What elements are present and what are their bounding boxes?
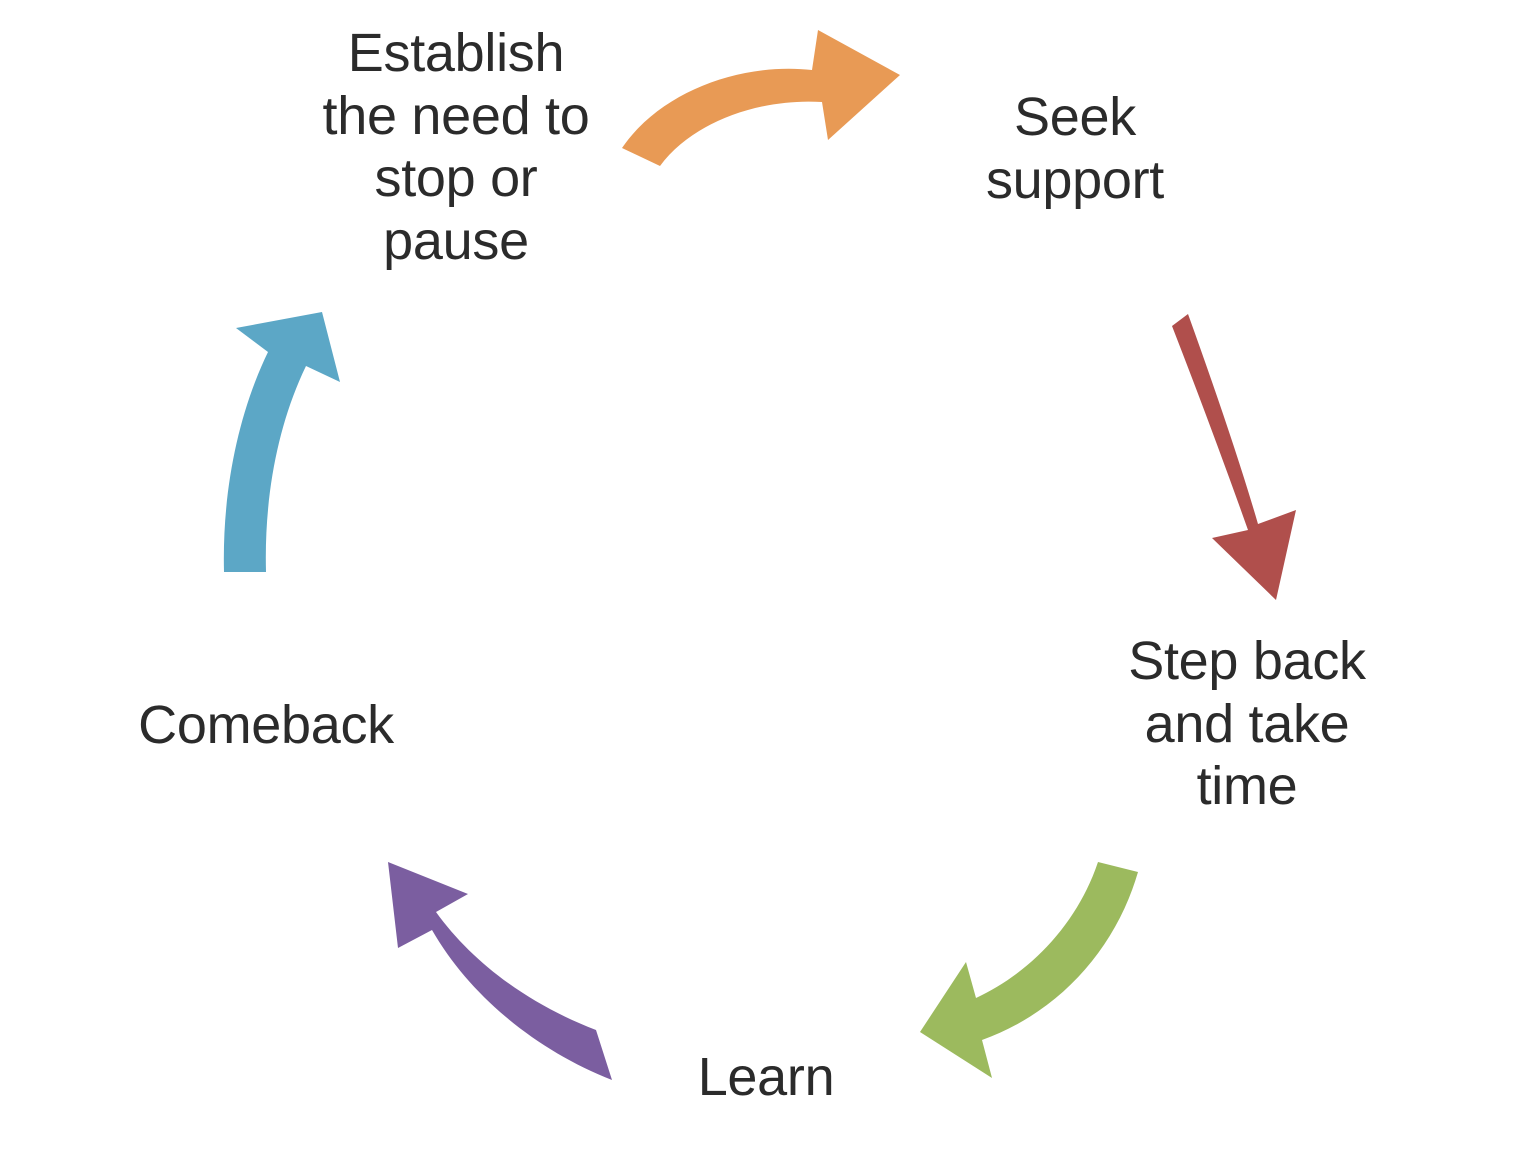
arrow-seek-to-stepback-icon <box>1172 314 1296 600</box>
arrow-layer <box>0 0 1536 1152</box>
arrow-comeback-to-establish-icon <box>224 312 340 572</box>
cycle-diagram: Establish the need to stop or pause Seek… <box>0 0 1536 1152</box>
arrow-establish-to-seek-icon <box>622 30 900 166</box>
step-label-comeback: Comeback <box>96 694 436 757</box>
step-label-seek-support: Seek support <box>930 86 1220 211</box>
step-label-step-back: Step back and take time <box>1092 630 1402 818</box>
step-label-learn: Learn <box>626 1046 906 1109</box>
step-label-establish: Establish the need to stop or pause <box>296 22 616 273</box>
arrow-learn-to-comeback-icon <box>388 862 612 1080</box>
arrow-stepback-to-learn-icon <box>920 862 1138 1078</box>
